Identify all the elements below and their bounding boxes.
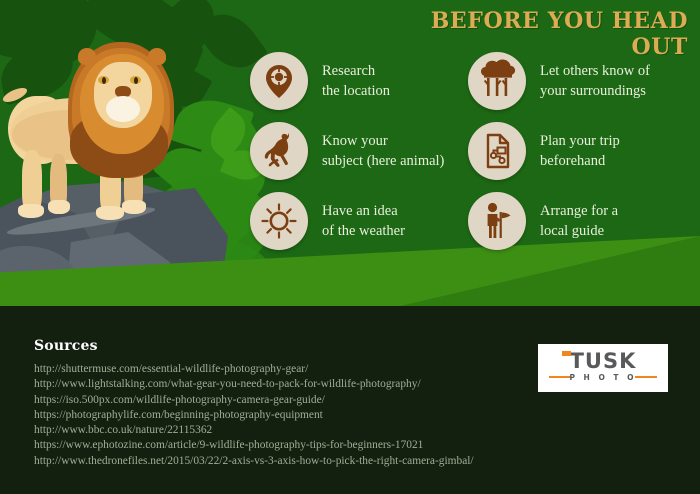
sun-icon: [250, 192, 308, 250]
source-link[interactable]: http://shuttermuse.com/essential-wildlif…: [34, 362, 554, 377]
tip-icon-circle: [250, 122, 308, 180]
tip-line-1: Know your: [322, 133, 388, 149]
source-link[interactable]: http://www.lightstalking.com/what-gear-y…: [34, 377, 554, 392]
tip-label: Researchthe location: [322, 61, 390, 101]
lion-figure: [8, 38, 208, 223]
lion-on-rock-illustration: [0, 0, 250, 306]
top-green-panel: BEFORE YOU HEAD OUT: [0, 0, 700, 306]
tip-line-1: Research: [322, 63, 375, 79]
tip-line-2: beforehand: [540, 153, 605, 169]
tip-line-2: the location: [322, 83, 390, 99]
plan-document-icon: [468, 122, 526, 180]
tip-item-have-an-idea-of-the-weather[interactable]: Have an ideaof the weather: [250, 192, 405, 250]
tip-line-1: Plan your trip: [540, 133, 620, 149]
tip-icon-circle: [468, 122, 526, 180]
source-link[interactable]: https://iso.500px.com/wildlife-photograp…: [34, 393, 554, 408]
tip-icon-circle: [468, 192, 526, 250]
tip-item-arrange-for-a-local-guide[interactable]: Arrange for alocal guide: [468, 192, 618, 250]
tip-line-2: subject (here animal): [322, 153, 444, 169]
tip-item-plan-your-trip[interactable]: Plan your tripbeforehand: [468, 122, 620, 180]
tip-label: Let others know ofyour surroundings: [540, 61, 650, 101]
tip-line-1: Have an idea: [322, 203, 398, 219]
tip-line-2: of the weather: [322, 223, 405, 239]
tip-line-2: your surroundings: [540, 83, 646, 99]
logo-orange-tick-icon: [562, 351, 571, 356]
logo-artwork: TUSK P H O T O: [547, 350, 659, 386]
tip-label: Know yoursubject (here animal): [322, 131, 444, 171]
tips-grid: Researchthe location: [250, 52, 700, 272]
tip-line-1: Let others know of: [540, 63, 650, 79]
sources-panel: Sources http://shuttermuse.com/essential…: [0, 306, 700, 494]
tip-item-know-your-subject[interactable]: Know yoursubject (here animal): [250, 122, 444, 180]
sources-heading: Sources: [34, 338, 98, 354]
source-link[interactable]: http://www.thedronefiles.net/2015/03/22/…: [34, 454, 554, 469]
tip-item-research-the-location[interactable]: Researchthe location: [250, 52, 390, 110]
source-link[interactable]: http://www.bbc.co.uk/nature/22115362: [34, 423, 554, 438]
source-link[interactable]: https://www.ephotozine.com/article/9-wil…: [34, 438, 554, 453]
sources-list: http://shuttermuse.com/essential-wildlif…: [34, 362, 554, 469]
logo-subtext: P H O T O: [547, 373, 659, 382]
tip-label: Plan your tripbeforehand: [540, 131, 620, 171]
location-pin-icon: [250, 52, 308, 110]
tip-line-2: local guide: [540, 223, 604, 239]
tip-line-1: Arrange for a: [540, 203, 618, 219]
tip-icon-circle: [468, 52, 526, 110]
tip-label: Arrange for alocal guide: [540, 201, 618, 241]
infographic-poster: BEFORE YOU HEAD OUT: [0, 0, 700, 494]
tip-label: Have an ideaof the weather: [322, 201, 405, 241]
tusk-photo-logo[interactable]: TUSK P H O T O: [538, 344, 668, 392]
tip-icon-circle: [250, 192, 308, 250]
tip-icon-circle: [250, 52, 308, 110]
guide-person-icon: [468, 192, 526, 250]
source-link[interactable]: https://photographylife.com/beginning-ph…: [34, 408, 554, 423]
tree-icon: [468, 52, 526, 110]
kangaroo-icon: [250, 122, 308, 180]
tip-item-let-others-know[interactable]: Let others know ofyour surroundings: [468, 52, 650, 110]
